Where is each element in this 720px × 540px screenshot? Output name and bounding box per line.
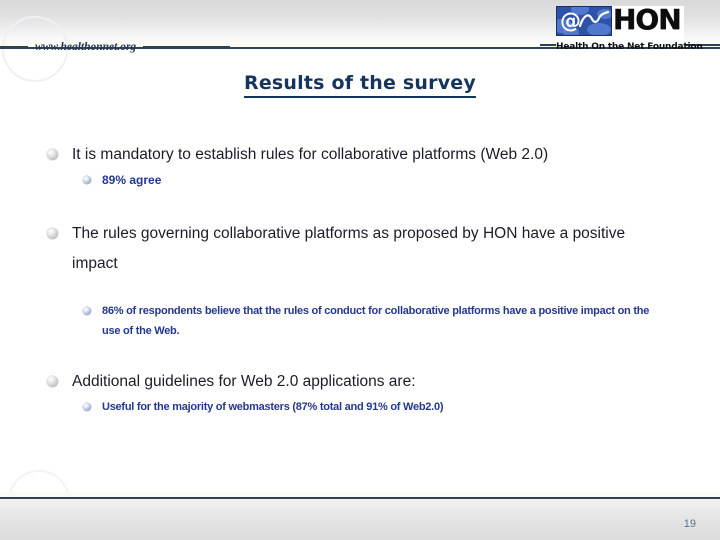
sub-bullet-3-text: Useful for the majority of webmasters (8…	[102, 401, 443, 413]
hon-at-emblem: @	[556, 6, 612, 36]
hon-logo[interactable]: @ HON Health On the Net Foundation	[556, 6, 684, 48]
footer-gradient-band	[0, 499, 720, 540]
sub-bullet-sphere-icon	[83, 307, 91, 315]
bullet-item-2: The rules governing collaborative platfo…	[0, 219, 720, 279]
bullet-item-3: Additional guidelines for Web 2.0 applic…	[0, 367, 720, 397]
bullet-3-text: Additional guidelines for Web 2.0 applic…	[72, 373, 416, 390]
hon-tagline-text: Health On the Net Foundation	[556, 42, 703, 52]
url-rule-right	[143, 46, 230, 48]
presentation-slide: www.healthonnet.org @ HON Health On the …	[0, 0, 720, 540]
url-rule-left	[0, 46, 28, 48]
swirl-icon	[579, 10, 609, 30]
slide-body: It is mandatory to establish rules for c…	[0, 140, 720, 480]
hon-tagline-box: Health On the Net Foundation	[556, 36, 684, 47]
hon-wordmark-box: HON	[612, 6, 684, 36]
spacer-3	[0, 341, 720, 367]
sub-bullet-item-1: 89% agree	[0, 170, 720, 191]
site-url-block: www.healthonnet.org	[0, 38, 230, 56]
spacer-2	[0, 279, 720, 301]
page-number: 19	[684, 518, 696, 530]
bullet-sphere-icon	[47, 228, 58, 239]
bullet-sphere-icon	[47, 149, 58, 160]
sub-bullet-1-text: 89% agree	[102, 173, 161, 187]
hon-wordmark-text: HON	[613, 3, 681, 37]
sub-bullet-item-3: Useful for the majority of webmasters (8…	[0, 397, 720, 417]
hon-logo-top-row: @ HON	[556, 6, 684, 36]
sub-bullet-sphere-icon	[83, 403, 91, 411]
bullet-1-text: It is mandatory to establish rules for c…	[72, 146, 548, 163]
sub-bullet-2-text: 86% of respondents believe that the rule…	[102, 305, 649, 337]
bullet-sphere-icon	[47, 376, 58, 387]
sub-bullet-sphere-icon	[83, 176, 91, 184]
bullet-item-1: It is mandatory to establish rules for c…	[0, 140, 720, 170]
sub-bullet-item-2: 86% of respondents believe that the rule…	[0, 301, 720, 341]
slide-title-text: Results of the survey	[244, 72, 476, 98]
slide-title: Results of the survey	[0, 72, 720, 94]
site-url-text[interactable]: www.healthonnet.org	[28, 41, 143, 53]
bullet-2-text: The rules governing collaborative platfo…	[72, 225, 625, 272]
at-symbol-icon: @	[560, 8, 581, 35]
spacer-1	[0, 191, 720, 219]
